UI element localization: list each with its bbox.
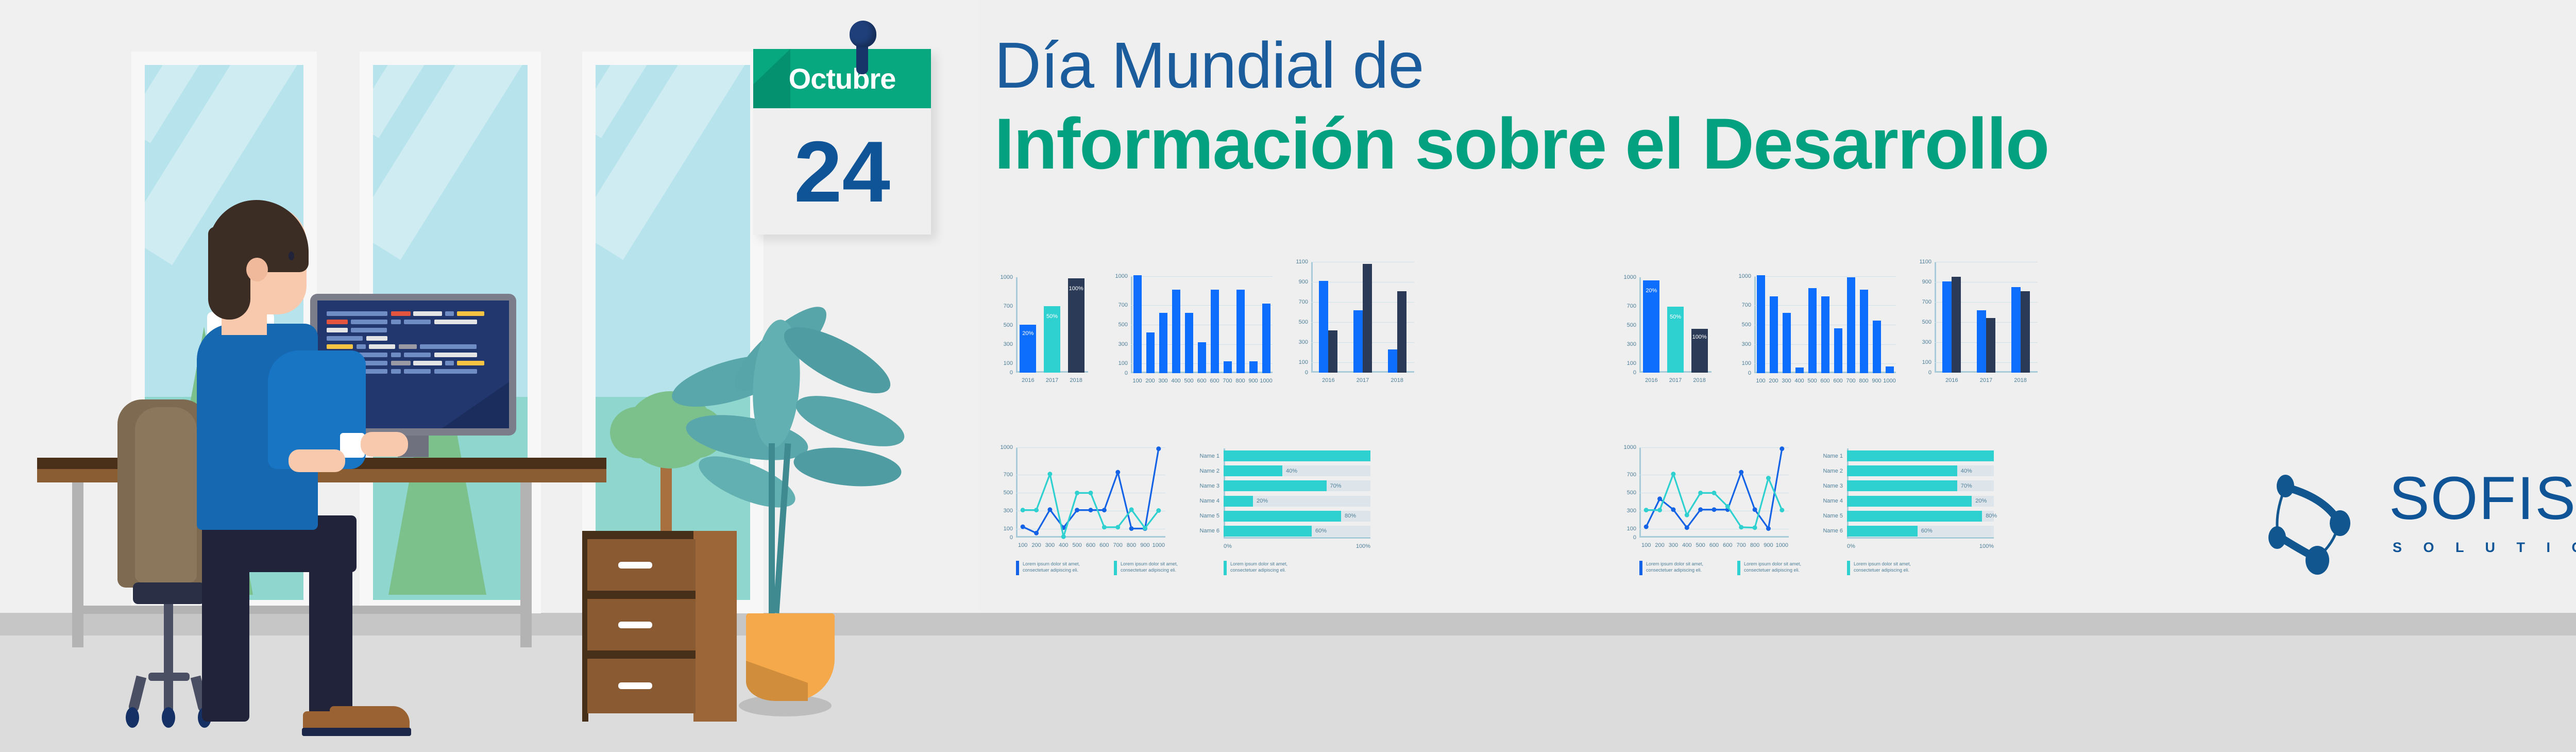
bar (1757, 275, 1765, 373)
person-ear (246, 258, 268, 281)
sofis-network-icon (2263, 466, 2371, 580)
bar (1159, 313, 1167, 373)
x-tick-label: 900 (1248, 378, 1258, 384)
chart-bar-grouped-1: 01003005007009001100201620172018 (1311, 262, 1414, 373)
y-tick-label: 500 (1299, 319, 1308, 325)
data-point (1766, 476, 1771, 480)
chair-backrest-inner (135, 407, 197, 582)
person-eye (289, 252, 294, 260)
bar (1224, 361, 1232, 374)
drawer-handle-2 (618, 622, 652, 628)
hbar-value-label: 80% (1345, 513, 1356, 519)
bar (1821, 296, 1829, 373)
hbar-value-label: 60% (1315, 528, 1327, 534)
hbar-name-label: Name 6 (1199, 528, 1219, 534)
chart-line-dual-1: 0100300500700100010020030040050060060070… (1016, 447, 1165, 538)
x-tick-label: 600 (1820, 378, 1829, 384)
legend-line-series-2: Lorem ipsum dolor sit amet, consectetuer… (1737, 561, 1827, 575)
line-series (1646, 449, 1782, 529)
y-tick-label: 0 (1928, 370, 1931, 376)
x-tick-label: 700 (1846, 378, 1855, 384)
bar (1847, 277, 1855, 373)
hbar-name-label: Name 5 (1823, 513, 1843, 519)
hbar-row: Name 580% (1847, 511, 1994, 522)
y-tick-label: 700 (1118, 302, 1128, 308)
x-tick-label: 2018 (1070, 377, 1082, 383)
gridline (1131, 305, 1273, 306)
y-tick-label: 900 (1299, 279, 1308, 285)
hbar-fill (1224, 496, 1253, 507)
hbar-fill (1224, 465, 1282, 476)
hbar-fill (1847, 526, 1918, 537)
data-point (1644, 525, 1649, 529)
x-tick-label: 2017 (1357, 377, 1369, 383)
line-plot-area (1639, 447, 1789, 538)
hbar-fill (1847, 496, 1972, 507)
x-tick-label: 600 (1197, 378, 1206, 384)
dashboard-group-1: 0100300500700100020%50%100%2016201720180… (994, 257, 1602, 587)
bar (1146, 332, 1155, 373)
hbar-fill (1847, 480, 1957, 491)
bar-serie-navy (1363, 264, 1372, 373)
y-tick-label: 1000 (1001, 444, 1013, 450)
desk-leg-left (72, 482, 83, 647)
x-tick-label: 500 (1807, 378, 1817, 384)
x-tick-label: 500 (1696, 542, 1705, 548)
calendar-day: 24 (753, 108, 931, 235)
x-tick-label: 400 (1059, 542, 1068, 548)
hbar-row: Name 240% (1224, 465, 1370, 476)
y-tick-label: 700 (1004, 303, 1013, 309)
bar (1873, 321, 1881, 373)
x-tick-label: 800 (1235, 378, 1245, 384)
legend-label: Lorem ipsum dolor sit amet, consectetuer… (1646, 561, 1703, 573)
hbar-name-label: Name 4 (1199, 498, 1219, 504)
y-tick-label: 100 (1922, 359, 1931, 365)
hbar-value-label: 70% (1330, 483, 1342, 489)
chart-bar-series-2: 0100300500700100010020030040050060060070… (1754, 276, 1896, 373)
x-tick-label: 100 (1641, 542, 1651, 548)
gridline (1131, 325, 1273, 325)
hbar-row: Name 370% (1847, 480, 1994, 491)
x-tick-label: 600 (1210, 378, 1219, 384)
bar (1860, 290, 1868, 373)
data-point (1156, 446, 1161, 451)
y-tick-label: 300 (1627, 341, 1636, 347)
bar-serie-azul (1353, 310, 1363, 373)
hbar-row: Name 1 (1224, 450, 1370, 461)
bar: 20% (1020, 325, 1036, 373)
gridline (1935, 262, 2038, 262)
bar (1770, 296, 1778, 373)
bar (1262, 304, 1270, 373)
chart-bar-years-1: 0100300500700100020%50%100%201620172018 (1016, 277, 1088, 373)
calendar-month: Octubre (753, 49, 931, 108)
x-tick-label: 2017 (1980, 377, 1992, 383)
hbar-value-label: 20% (1257, 498, 1268, 504)
data-point (1725, 504, 1730, 509)
legend-line-series-2: Lorem ipsum dolor sit amet, consectetuer… (1114, 561, 1204, 575)
data-point (1156, 508, 1161, 513)
x-tick-label: 500 (1072, 542, 1081, 548)
x-tick-label: 1000 (1776, 542, 1788, 548)
shoe-sole (302, 728, 411, 736)
baseboard (0, 613, 2576, 636)
y-tick-label: 1000 (1624, 444, 1636, 450)
x-tick-label: 800 (1127, 542, 1136, 548)
x-tick-label: 100 (1018, 542, 1027, 548)
x-tick-label: 700 (1737, 542, 1746, 548)
window-right (582, 52, 764, 613)
data-point (1075, 491, 1079, 495)
bar (1198, 342, 1206, 373)
data-point (1698, 507, 1703, 512)
y-tick-label: 300 (1299, 339, 1308, 345)
bar (1133, 275, 1142, 373)
bar-value-label: 50% (1046, 313, 1058, 320)
x-tick-label: 200 (1655, 542, 1664, 548)
title-line-2: Información sobre el Desarrollo (994, 106, 2576, 181)
gridline (1754, 276, 1896, 277)
data-point (1115, 470, 1120, 475)
y-tick-label: 500 (1004, 322, 1013, 328)
bar: 50% (1044, 306, 1060, 373)
x-tick-label: 2016 (1322, 377, 1334, 383)
x-tick-label: 2018 (1693, 377, 1705, 383)
hbar-fill (1847, 511, 1982, 522)
legend-swatch (1016, 561, 1019, 575)
legend-label: Lorem ipsum dolor sit amet, consectetuer… (1230, 561, 1287, 573)
x-tick-label: 0% (1847, 543, 1855, 549)
y-tick-label: 700 (1004, 472, 1013, 478)
data-point (1021, 508, 1025, 512)
x-tick-label: 700 (1223, 378, 1232, 384)
x-tick-label: 900 (1140, 542, 1149, 548)
x-tick-label: 2016 (1645, 377, 1657, 383)
data-point (1780, 508, 1784, 512)
hbar-row: Name 240% (1847, 465, 1994, 476)
person-hand-2 (289, 449, 345, 472)
bar (1808, 288, 1817, 373)
x-tick-label: 2017 (1669, 377, 1682, 383)
data-point (1739, 470, 1743, 475)
dashboard-group-2: 0100300500700100020%50%100%2016201720180… (1618, 257, 2226, 587)
bar-serie-azul (1388, 349, 1397, 373)
chart-bar-years-2: 0100300500700100020%50%100%201620172018 (1639, 277, 1711, 373)
x-tick-label: 2018 (1391, 377, 1403, 383)
chart-hbar-2: Name 1Name 240%Name 370%Name 420%Name 58… (1847, 448, 1994, 539)
hbar-name-label: Name 3 (1823, 483, 1843, 489)
x-tick-label: 200 (1769, 378, 1778, 384)
data-point (1671, 472, 1675, 476)
bar (1249, 361, 1258, 374)
line-plot-area (1016, 447, 1165, 538)
legend-swatch (1737, 561, 1740, 575)
data-point (1021, 525, 1025, 529)
data-point (1657, 508, 1662, 512)
title-block: Día Mundial de Información sobre el Desa… (994, 31, 2576, 181)
hbar-fill (1224, 450, 1370, 461)
person-hand (361, 432, 408, 457)
hbar-fill (1224, 511, 1341, 522)
bar-serie-navy (2021, 291, 2030, 373)
legend-swatch (1847, 561, 1850, 575)
y-tick-label: 500 (1118, 322, 1128, 328)
desk-crossbar (72, 606, 532, 614)
bar (1185, 313, 1193, 373)
y-tick-label: 0 (1633, 534, 1636, 541)
x-tick-label: 600 (1099, 542, 1109, 548)
data-point (1657, 496, 1662, 501)
hbar-value-label: 40% (1961, 468, 1972, 474)
sofis-logo: SOFIS S O L U T I O N S (2263, 466, 2576, 585)
data-point (1129, 507, 1134, 512)
y-tick-label: 700 (1627, 472, 1636, 478)
bar-serie-navy (1986, 318, 1995, 373)
legend-swatch (1224, 561, 1227, 575)
hbar-row: Name 660% (1224, 526, 1370, 537)
x-tick-label: 100% (1356, 543, 1370, 549)
drawer-cabinet (582, 531, 737, 722)
data-point (1129, 526, 1134, 531)
x-tick-label: 600 (1833, 378, 1842, 384)
bar: 100% (1068, 278, 1084, 373)
y-axis (1847, 448, 1849, 539)
y-tick-label: 1000 (1739, 273, 1751, 279)
chair-caster (126, 707, 139, 728)
y-tick-label: 0 (1633, 370, 1636, 376)
data-point (1644, 508, 1649, 512)
y-axis (1016, 277, 1018, 373)
data-point (1753, 525, 1757, 530)
data-point (1075, 508, 1079, 512)
chair-caster (162, 707, 175, 728)
y-tick-label: 100 (1299, 359, 1308, 365)
x-tick-label: 100 (1132, 378, 1142, 384)
y-tick-label: 0 (1010, 534, 1013, 541)
y-tick-label: 500 (1922, 319, 1931, 325)
hbar-name-label: Name 5 (1199, 513, 1219, 519)
line-series (1023, 474, 1159, 537)
y-tick-label: 300 (1922, 339, 1931, 345)
bar-serie-navy (1328, 330, 1337, 373)
bar: 100% (1691, 329, 1708, 373)
hbar-name-label: Name 2 (1823, 468, 1843, 474)
y-tick-label: 300 (1004, 508, 1013, 514)
legend-line-series-1: Lorem ipsum dolor sit amet, consectetuer… (1016, 561, 1106, 575)
banner-root: Octubre 24 Día Mundial de Información so… (0, 0, 2576, 752)
bar: 50% (1667, 307, 1684, 373)
data-point (1115, 525, 1120, 529)
hbar-name-label: Name 2 (1199, 468, 1219, 474)
y-tick-label: 300 (1118, 341, 1128, 347)
bar (1211, 290, 1219, 373)
y-axis (1311, 262, 1313, 373)
data-point (1698, 491, 1703, 495)
x-tick-label: 300 (1782, 378, 1791, 384)
data-point (1089, 508, 1093, 512)
bar-serie-azul (2011, 287, 2021, 373)
x-tick-label: 400 (1794, 378, 1804, 384)
y-tick-label: 500 (1627, 490, 1636, 496)
y-tick-label: 300 (1004, 341, 1013, 347)
legend-swatch (1114, 561, 1117, 575)
x-tick-label: 400 (1171, 378, 1180, 384)
title-line-1: Día Mundial de (994, 31, 2576, 100)
legend-line-series-1: Lorem ipsum dolor sit amet, consectetuer… (1639, 561, 1730, 575)
x-tick-label: 900 (1872, 378, 1881, 384)
bar (1172, 290, 1180, 373)
data-point (1685, 513, 1689, 517)
bar-serie-azul (1977, 310, 1986, 373)
y-tick-label: 0 (1305, 370, 1308, 376)
y-tick-label: 900 (1922, 279, 1931, 285)
hbar-row: Name 420% (1224, 496, 1370, 507)
y-axis (1639, 277, 1641, 373)
logo-wordmark: SOFIS (2389, 463, 2576, 533)
x-tick-label: 500 (1184, 378, 1193, 384)
bar-serie-azul (1942, 281, 1952, 373)
data-point (1102, 525, 1107, 529)
x-tick-label: 200 (1145, 378, 1155, 384)
chart-hbar-1: Name 1Name 240%Name 370%Name 420%Name 58… (1224, 448, 1370, 539)
calendar-widget: Octubre 24 (753, 49, 931, 235)
x-tick-label: 700 (1113, 542, 1123, 548)
y-tick-label: 100 (1004, 526, 1013, 532)
hbar-value-label: 60% (1921, 528, 1933, 534)
hbar-name-label: Name 6 (1823, 528, 1843, 534)
pushpin-icon (848, 21, 877, 76)
y-tick-label: 1000 (1624, 274, 1636, 280)
x-tick-label: 1000 (1260, 378, 1272, 384)
hbar-row: Name 580% (1224, 511, 1370, 522)
data-point (1712, 491, 1717, 495)
chair-pole (164, 604, 173, 676)
hbar-name-label: Name 3 (1199, 483, 1219, 489)
y-tick-label: 0 (1010, 370, 1013, 376)
y-tick-label: 700 (1299, 299, 1308, 305)
data-point (1061, 534, 1066, 539)
hbar-name-label: Name 1 (1199, 453, 1219, 459)
x-tick-label: 800 (1750, 542, 1759, 548)
data-point (1780, 446, 1784, 451)
y-tick-label: 300 (1742, 341, 1751, 347)
bar-value-label: 50% (1670, 314, 1681, 320)
y-tick-label: 1000 (1115, 273, 1128, 279)
person-hair-side (208, 227, 250, 320)
x-tick-label: 300 (1669, 542, 1678, 548)
hbar-value-label: 40% (1286, 468, 1297, 474)
y-tick-label: 0 (1125, 370, 1128, 376)
gridline (1131, 276, 1273, 277)
data-point (1712, 507, 1717, 512)
legend-label: Lorem ipsum dolor sit amet, consectetuer… (1023, 561, 1080, 573)
x-tick-label: 2018 (2014, 377, 2026, 383)
hbar-value-label: 80% (1986, 513, 1997, 519)
x-tick-label: 800 (1859, 378, 1868, 384)
x-tick-label: 300 (1045, 542, 1055, 548)
hbar-row: Name 420% (1847, 496, 1994, 507)
legend-hbar-series: Lorem ipsum dolor sit amet, consectetuer… (1224, 561, 1314, 575)
hbar-fill (1847, 465, 1957, 476)
data-point (1047, 507, 1052, 512)
hbar-row: Name 370% (1224, 480, 1370, 491)
x-tick-label: 400 (1682, 542, 1691, 548)
hbar-fill (1224, 526, 1312, 537)
logo-tagline: S O L U T I O N S (2393, 540, 2576, 556)
data-point (1102, 508, 1107, 512)
y-tick-label: 1100 (1919, 259, 1931, 265)
chair-seat (133, 582, 205, 604)
x-tick-label: 1000 (1883, 378, 1895, 384)
y-tick-label: 500 (1004, 490, 1013, 496)
hbar-fill (1847, 450, 1994, 461)
bar-value-label: 20% (1646, 288, 1657, 294)
y-tick-label: 700 (1627, 303, 1636, 309)
hbar-name-label: Name 1 (1823, 453, 1843, 459)
legend-swatch (1639, 561, 1642, 575)
drawer-handle-3 (618, 682, 652, 689)
y-tick-label: 300 (1627, 508, 1636, 514)
data-point (1766, 526, 1771, 531)
bar (1834, 328, 1842, 373)
bar-value-label: 100% (1069, 286, 1083, 292)
y-tick-label: 100 (1004, 360, 1013, 366)
x-tick-label: 2017 (1046, 377, 1058, 383)
y-tick-label: 100 (1742, 360, 1751, 366)
hbar-name-label: Name 4 (1823, 498, 1843, 504)
data-point (1047, 472, 1052, 476)
chart-bar-series-1: 0100300500700100010020030040050060060070… (1131, 276, 1273, 373)
legend-label: Lorem ipsum dolor sit amet, consectetuer… (1121, 561, 1178, 573)
data-point (1685, 525, 1689, 530)
data-point (1034, 508, 1039, 512)
bar: 20% (1643, 280, 1659, 373)
drawer-handle-1 (618, 562, 652, 569)
bar-value-label: 100% (1692, 334, 1707, 340)
legend-label: Lorem ipsum dolor sit amet, consectetuer… (1854, 561, 1911, 573)
bar-serie-navy (1952, 277, 1961, 373)
chart-line-dual-2: 0100300500700100010020030040050060060070… (1639, 447, 1789, 538)
x-tick-label: 1000 (1153, 542, 1165, 548)
gridline (1311, 262, 1414, 262)
data-point (1753, 507, 1757, 512)
y-tick-label: 500 (1742, 322, 1751, 328)
x-tick-label: 300 (1158, 378, 1167, 384)
bar (1236, 290, 1245, 373)
x-tick-label: 600 (1723, 542, 1732, 548)
x-axis (1847, 537, 1994, 539)
bar (1795, 367, 1804, 373)
hbar-row: Name 660% (1847, 526, 1994, 537)
data-point (1034, 531, 1039, 536)
y-tick-label: 700 (1742, 302, 1751, 308)
x-tick-label: 100% (1979, 543, 1994, 549)
bar (1783, 313, 1791, 373)
data-point (1143, 526, 1147, 530)
chart-bar-grouped-2: 01003005007009001100201620172018 (1935, 262, 2038, 373)
desk-leg-right (520, 482, 532, 647)
x-tick-label: 2016 (1022, 377, 1034, 383)
y-axis (1935, 262, 1936, 373)
y-tick-label: 100 (1627, 526, 1636, 532)
data-point (1089, 491, 1093, 495)
y-tick-label: 1000 (1001, 274, 1013, 280)
bar (1886, 366, 1894, 373)
bar-serie-azul (1319, 281, 1328, 373)
y-tick-label: 1100 (1296, 259, 1308, 265)
x-tick-label: 0% (1224, 543, 1232, 549)
